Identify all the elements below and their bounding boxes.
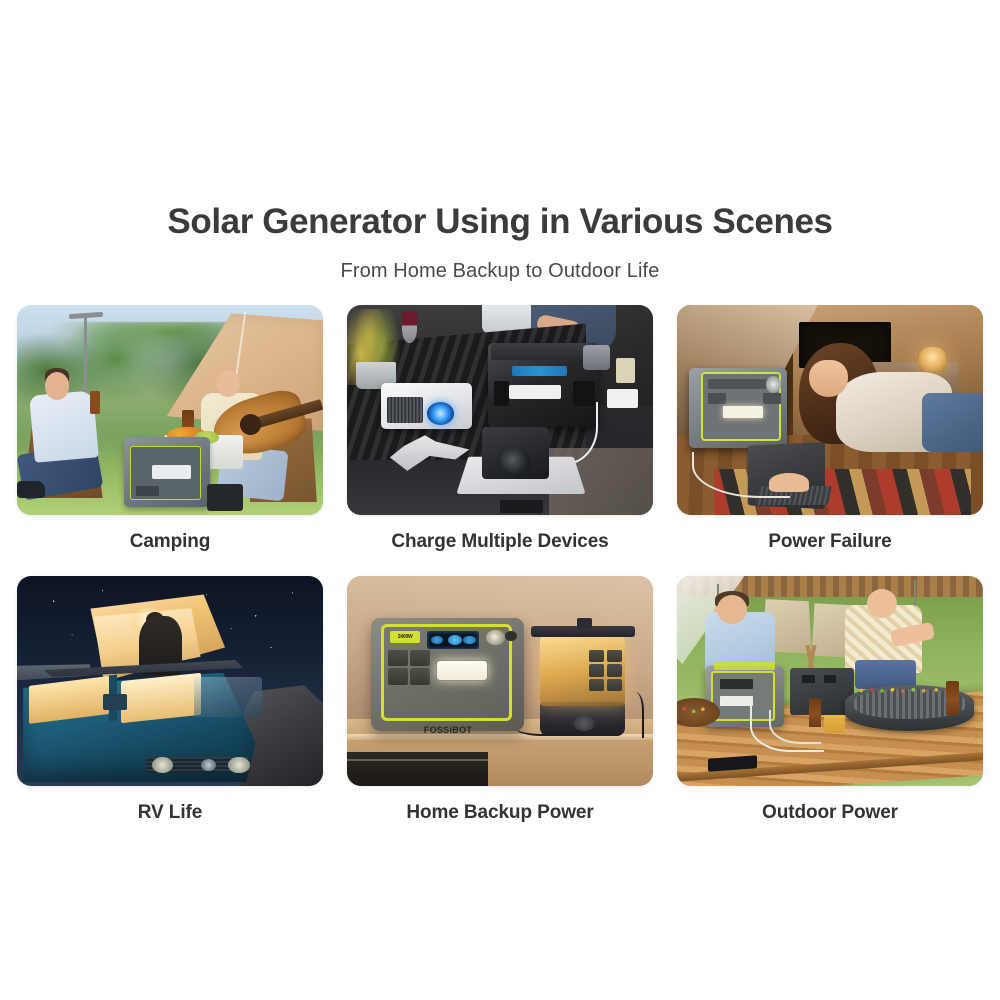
brand-wordmark: FOSSiBOT <box>402 723 494 738</box>
table-lamp-icon <box>919 347 947 372</box>
drink-cup <box>824 715 845 734</box>
van-side-mirror <box>103 694 127 711</box>
page-root: Solar Generator Using in Various Scenes … <box>0 0 1000 1000</box>
cooker-lid-knob <box>577 618 592 629</box>
outlet-right-2 <box>607 650 622 663</box>
outlet-right-1 <box>589 650 604 663</box>
scene-caption-power-failure: Power Failure <box>768 530 891 554</box>
power-station-outlet-right <box>763 393 781 404</box>
projector-lens <box>427 402 455 425</box>
scene-grid: Camping <box>17 305 983 843</box>
outdoor-power-illustration <box>677 576 983 786</box>
scene-card-camping[interactable]: Camping <box>17 305 323 572</box>
camera-bag <box>207 484 244 511</box>
power-station-display <box>509 385 561 400</box>
power-station-top <box>491 343 595 360</box>
outlet-left-2 <box>410 650 430 667</box>
outlet-right-5 <box>589 679 604 692</box>
outlet-left-3 <box>388 668 408 685</box>
solar-panel-latch-2 <box>824 675 836 683</box>
van-window-side <box>121 673 201 723</box>
outlet-right-3 <box>589 664 604 677</box>
phone-on-table <box>500 500 543 513</box>
power-station-outlet-left <box>708 393 726 404</box>
scene-caption-camping: Camping <box>130 530 211 554</box>
header: Solar Generator Using in Various Scenes … <box>0 200 1000 284</box>
outlet-right-6 <box>607 679 622 692</box>
page-subtitle: From Home Backup to Outdoor Life <box>0 258 1000 284</box>
van-badge-icon <box>201 759 216 772</box>
scene-card-charge-multiple-devices[interactable]: Charge Multiple Devices <box>347 305 653 572</box>
woman-head <box>867 589 898 618</box>
power-station-handle <box>714 662 775 670</box>
power-station-port-row <box>708 379 775 390</box>
power-station-handle <box>583 345 611 370</box>
dslr-camera-lens <box>497 448 531 477</box>
outlet-left-4 <box>410 668 430 685</box>
charge-devices-illustration <box>347 305 653 515</box>
page-title: Solar Generator Using in Various Scenes <box>0 200 1000 244</box>
scene-caption-rv-life: RV Life <box>138 801 202 825</box>
scene-card-power-failure[interactable]: Power Failure <box>677 305 983 572</box>
station-to-cooker-cable <box>515 715 582 736</box>
power-station-port-row <box>512 366 567 377</box>
power-station-outlets <box>136 486 151 497</box>
man-head <box>45 372 69 399</box>
lower-cabinet <box>347 752 488 786</box>
power-station-dial <box>766 376 781 393</box>
scene-photo-charge-multiple-devices[interactable] <box>347 305 653 515</box>
cabinet-seam <box>347 759 488 761</box>
man-shoe <box>17 481 45 498</box>
scene-photo-home-backup-power[interactable]: 2400W <box>347 576 653 786</box>
scene-caption-home-backup-power: Home Backup Power <box>406 801 593 825</box>
power-station-led-light <box>720 696 754 707</box>
solar-panel-latch-1 <box>802 675 814 683</box>
wattage-badge-label: 2400W <box>390 631 421 644</box>
scene-photo-camping[interactable] <box>17 305 323 515</box>
van-headlight-right <box>228 757 249 774</box>
van-windshield <box>194 677 261 717</box>
laptop-charger-brick <box>607 389 638 408</box>
power-station-outlets-left <box>494 381 509 406</box>
power-button-icon <box>505 631 517 642</box>
beer-bottle-2 <box>946 681 958 715</box>
woman-jeans <box>922 393 983 452</box>
wall-adapter <box>616 358 634 383</box>
power-failure-illustration <box>677 305 983 515</box>
power-station-fan-icon <box>486 630 504 646</box>
scene-photo-outdoor-power[interactable] <box>677 576 983 786</box>
power-station-display <box>152 465 192 480</box>
wine-glass-icon <box>402 311 417 343</box>
outlet-left-1 <box>388 650 408 667</box>
outlet-right-4 <box>607 664 622 677</box>
scene-photo-rv-life[interactable] <box>17 576 323 786</box>
power-station-display <box>720 679 754 690</box>
food-skewers <box>855 681 959 700</box>
lcd-output-gauge <box>463 636 475 644</box>
lcd-battery-gauge <box>448 635 462 646</box>
platter-food <box>677 702 714 719</box>
scene-card-home-backup-power[interactable]: 2400W <box>347 576 653 843</box>
home-backup-illustration: 2400W <box>347 576 653 786</box>
beer-bottle-icon <box>90 391 99 414</box>
scene-photo-power-failure[interactable] <box>677 305 983 515</box>
camping-illustration <box>17 305 323 515</box>
cooker-power-cord <box>622 692 643 738</box>
scene-caption-outdoor-power: Outdoor Power <box>762 801 898 825</box>
scene-caption-charge-multiple-devices: Charge Multiple Devices <box>391 530 608 554</box>
projector-vent <box>387 397 424 422</box>
man-torso <box>29 391 99 464</box>
scene-card-rv-life[interactable]: RV Life <box>17 576 323 843</box>
power-station-led-light <box>436 660 488 681</box>
rv-life-illustration <box>17 576 323 786</box>
power-station-display <box>723 406 763 419</box>
scene-card-outdoor-power[interactable]: Outdoor Power <box>677 576 983 843</box>
